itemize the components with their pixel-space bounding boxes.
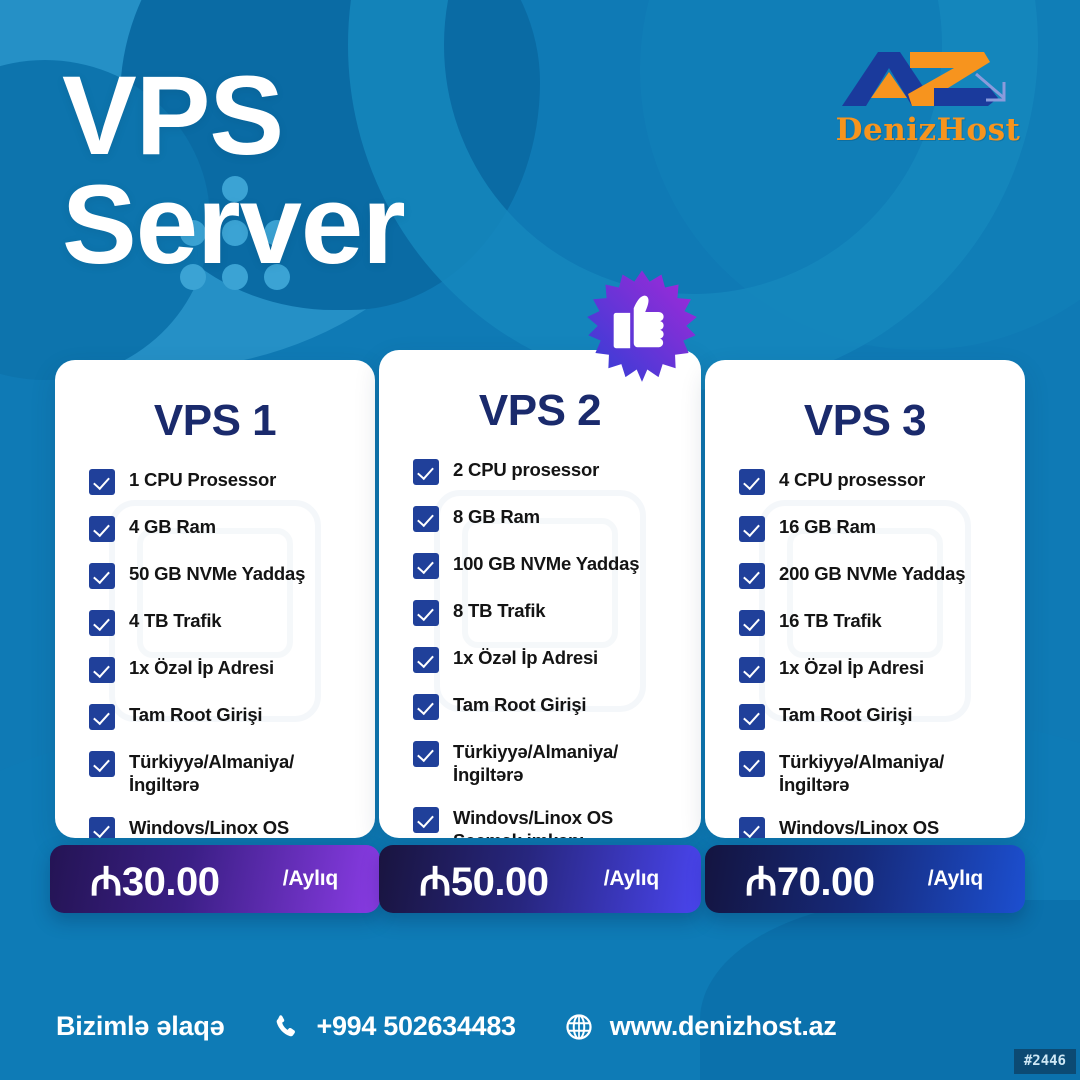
price-amount: ₼70.00	[745, 852, 875, 907]
check-icon	[89, 563, 115, 589]
feature-label: Windovs/Linox OS Seçmək imkanı	[453, 806, 685, 838]
check-icon	[89, 469, 115, 495]
check-icon	[413, 459, 439, 485]
plan-title: VPS 2	[379, 386, 701, 436]
feature-item: 16 TB Trafik	[739, 609, 1009, 636]
feature-label: 4 TB Trafik	[129, 609, 221, 632]
feature-item: Windovs/Linox OS Seçmək imkanı	[413, 806, 685, 838]
feature-list: 4 CPU prosessor 16 GB Ram 200 GB NVMe Ya…	[705, 468, 1025, 838]
feature-label: 1x Özəl İp Adresi	[779, 656, 924, 679]
check-icon	[413, 600, 439, 626]
check-icon	[89, 516, 115, 542]
feature-label: Türkiyyə/Almaniya/İngiltərə	[453, 740, 685, 786]
price-period: /Aylıq	[604, 867, 659, 891]
feature-label: 200 GB NVMe Yaddaş	[779, 562, 965, 585]
plan-title: VPS 3	[705, 396, 1025, 446]
feature-item: Tam Root Girişi	[739, 703, 1009, 730]
price-bar-vps-2[interactable]: ₼50.00 /Aylıq	[379, 845, 701, 913]
pricing-cards: VPS 1 1 CPU Prosessor 4 GB Ram 50 GB NVM…	[0, 0, 1080, 1080]
check-icon	[739, 817, 765, 838]
pricing-card-vps-1[interactable]: VPS 1 1 CPU Prosessor 4 GB Ram 50 GB NVM…	[55, 360, 375, 838]
feature-label: 16 TB Trafik	[779, 609, 881, 632]
check-icon	[413, 553, 439, 579]
feature-label: 1 CPU Prosessor	[129, 468, 276, 491]
check-icon	[413, 647, 439, 673]
feature-item: Türkiyyə/Almaniya/İngiltərə	[739, 750, 1009, 796]
check-icon	[739, 610, 765, 636]
pricing-card-vps-3[interactable]: VPS 3 4 CPU prosessor 16 GB Ram 200 GB N…	[705, 360, 1025, 838]
feature-item: Tam Root Girişi	[413, 693, 685, 720]
check-icon	[89, 610, 115, 636]
check-icon	[413, 807, 439, 833]
feature-item: 100 GB NVMe Yaddaş	[413, 552, 685, 579]
design-id-stamp: #2446	[1014, 1049, 1076, 1074]
feature-item: 8 GB Ram	[413, 505, 685, 532]
check-icon	[89, 657, 115, 683]
feature-label: 2 CPU prosessor	[453, 458, 599, 481]
feature-label: 1x Özəl İp Adresi	[129, 656, 274, 679]
check-icon	[739, 704, 765, 730]
check-icon	[413, 741, 439, 767]
check-icon	[89, 817, 115, 838]
feature-item: Tam Root Girişi	[89, 703, 359, 730]
price-period: /Aylıq	[928, 867, 983, 891]
check-icon	[739, 469, 765, 495]
price-bar-vps-1[interactable]: ₼30.00 /Aylıq	[50, 845, 380, 913]
check-icon	[739, 563, 765, 589]
feature-item: 4 GB Ram	[89, 515, 359, 542]
phone-icon	[272, 1013, 300, 1041]
feature-item: 1x Özəl İp Adresi	[89, 656, 359, 683]
check-icon	[89, 751, 115, 777]
feature-label: 16 GB Ram	[779, 515, 876, 538]
check-icon	[89, 704, 115, 730]
feature-item: Windovs/Linox OS Seçmək imkanı	[739, 816, 1009, 838]
price-bar-vps-3[interactable]: ₼70.00 /Aylıq	[705, 845, 1025, 913]
feature-item: Türkiyyə/Almaniya/İngiltərə	[89, 750, 359, 796]
globe-icon	[564, 1012, 594, 1042]
feature-label: Tam Root Girişi	[453, 693, 586, 716]
feature-list: 1 CPU Prosessor 4 GB Ram 50 GB NVMe Yadd…	[55, 468, 375, 838]
feature-label: Windovs/Linox OS Seçmək imkanı	[129, 816, 359, 838]
feature-item: 2 CPU prosessor	[413, 458, 685, 485]
check-icon	[739, 657, 765, 683]
footer-phone[interactable]: +994 502634483	[272, 1011, 515, 1042]
feature-label: Tam Root Girişi	[779, 703, 912, 726]
feature-item: 200 GB NVMe Yaddaş	[739, 562, 1009, 589]
feature-label: Türkiyyə/Almaniya/İngiltərə	[779, 750, 1009, 796]
feature-item: 4 CPU prosessor	[739, 468, 1009, 495]
price-period: /Aylıq	[283, 867, 338, 891]
feature-list: 2 CPU prosessor 8 GB Ram 100 GB NVMe Yad…	[379, 458, 701, 838]
feature-item: Türkiyyə/Almaniya/İngiltərə	[413, 740, 685, 786]
feature-item: 16 GB Ram	[739, 515, 1009, 542]
thumbs-up-icon	[583, 268, 701, 386]
website-url: www.denizhost.az	[610, 1011, 837, 1042]
feature-item: 1 CPU Prosessor	[89, 468, 359, 495]
price-amount: ₼30.00	[90, 852, 220, 907]
feature-item: 1x Özəl İp Adresi	[413, 646, 685, 673]
feature-label: 4 CPU prosessor	[779, 468, 925, 491]
price-amount: ₼50.00	[419, 852, 549, 907]
feature-label: 8 TB Trafik	[453, 599, 545, 622]
feature-label: 100 GB NVMe Yaddaş	[453, 552, 639, 575]
feature-label: 4 GB Ram	[129, 515, 216, 538]
feature-label: 50 GB NVMe Yaddaş	[129, 562, 305, 585]
phone-number: +994 502634483	[316, 1011, 515, 1042]
contact-label: Bizimlə əlaqə	[56, 1011, 224, 1042]
feature-label: 8 GB Ram	[453, 505, 540, 528]
feature-item: 50 GB NVMe Yaddaş	[89, 562, 359, 589]
feature-label: 1x Özəl İp Adresi	[453, 646, 598, 669]
feature-item: Windovs/Linox OS Seçmək imkanı	[89, 816, 359, 838]
feature-label: Windovs/Linox OS Seçmək imkanı	[779, 816, 1009, 838]
check-icon	[413, 694, 439, 720]
feature-item: 1x Özəl İp Adresi	[739, 656, 1009, 683]
feature-item: 4 TB Trafik	[89, 609, 359, 636]
feature-label: Tam Root Girişi	[129, 703, 262, 726]
feature-label: Türkiyyə/Almaniya/İngiltərə	[129, 750, 359, 796]
footer-contact-bar: Bizimlə əlaqə +994 502634483 www.denizho…	[0, 1011, 1080, 1042]
thumbs-up-badge	[583, 268, 701, 386]
footer-website[interactable]: www.denizhost.az	[564, 1011, 837, 1042]
pricing-card-vps-2[interactable]: VPS 2 2 CPU prosessor 8 GB Ram 100 GB NV…	[379, 350, 701, 838]
feature-item: 8 TB Trafik	[413, 599, 685, 626]
check-icon	[413, 506, 439, 532]
check-icon	[739, 751, 765, 777]
plan-title: VPS 1	[55, 396, 375, 446]
poster-canvas: VPS Server DenizHost	[0, 0, 1080, 1080]
check-icon	[739, 516, 765, 542]
